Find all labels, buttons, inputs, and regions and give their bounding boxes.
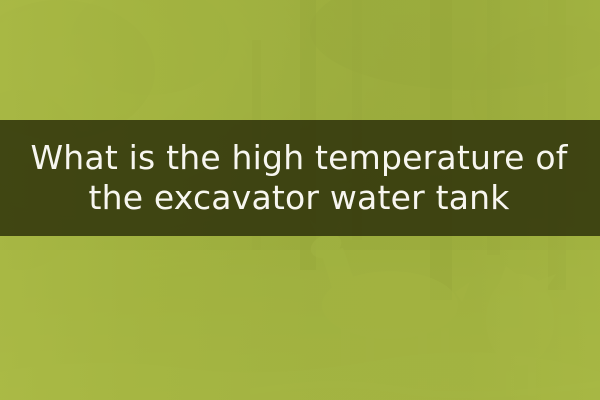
caption-line-1: What is the high temperature of xyxy=(30,138,567,178)
question-card-image: What is the high temperature of the exca… xyxy=(0,0,600,400)
caption-line-2: the excavator water tank xyxy=(88,178,509,218)
caption-band: What is the high temperature of the exca… xyxy=(0,120,600,236)
caption-text-block: What is the high temperature of the exca… xyxy=(0,120,600,236)
